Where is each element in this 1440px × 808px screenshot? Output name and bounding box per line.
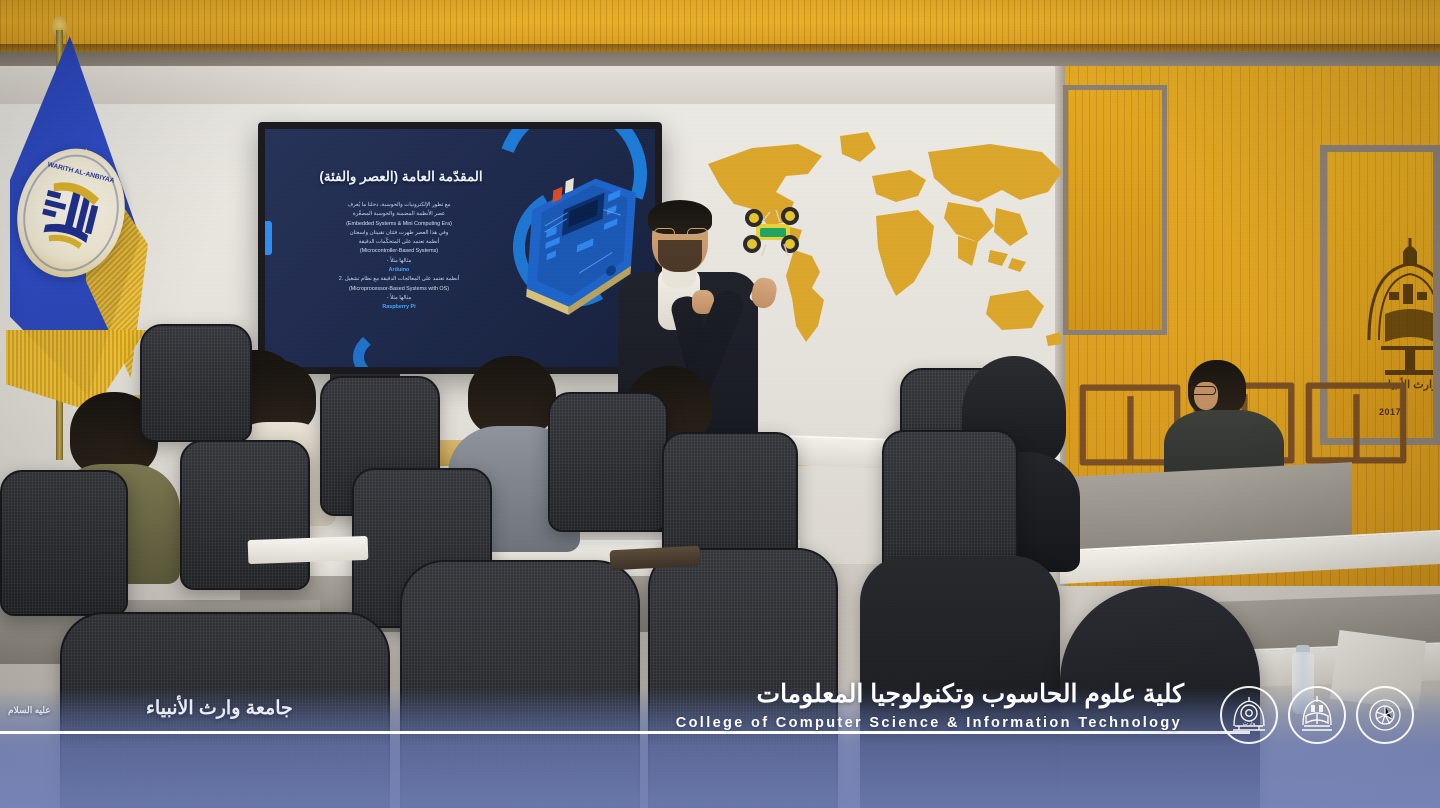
robot-car bbox=[740, 204, 806, 264]
office-chair-foreground bbox=[60, 612, 390, 808]
student-head bbox=[468, 356, 556, 436]
office-chair-foreground bbox=[400, 560, 640, 808]
slide-line: أنظمة تعتمد على المعالجات الدقيقة مع نظا… bbox=[273, 275, 525, 284]
slide-body: مع تطور الإلكترونيات والحوسبة، دخلنا ما … bbox=[273, 201, 525, 313]
office-chair-foreground bbox=[648, 548, 838, 808]
slide-line: مثالها مثلاً - bbox=[273, 257, 525, 266]
presenter-glasses bbox=[654, 228, 708, 240]
slide-line: مع تطور الإلكترونيات والحوسبة، دخلنا ما … bbox=[273, 201, 525, 210]
office-chair bbox=[180, 440, 310, 590]
notebook bbox=[248, 536, 369, 564]
glasses-icon bbox=[1190, 386, 1216, 395]
slide-line: عصر الأنظمة المضمنة والحوسبة المصغّرة bbox=[273, 210, 525, 219]
slide-line-arduino: Arduino bbox=[273, 266, 525, 275]
office-chair-foreground bbox=[860, 556, 1060, 808]
office-chair bbox=[0, 470, 128, 616]
slide-line: (Embedded Systems & Mini Computing Era) bbox=[273, 220, 525, 229]
water-bottle bbox=[1292, 652, 1314, 714]
slide-line: مثالها مثلاً - bbox=[273, 294, 525, 303]
lecture-photo: وارث الأنبياء 2017 bbox=[0, 0, 1440, 808]
wooden-chair-back bbox=[1306, 383, 1407, 464]
university-subtitle-ar: عليه السلام bbox=[8, 705, 51, 716]
presenter-beard bbox=[658, 240, 702, 272]
slide-line: (Microcontroller-Based Systems) bbox=[273, 247, 525, 256]
university-emblem-carving: وارث الأنبياء bbox=[1355, 222, 1440, 402]
slide-arc-decoration bbox=[353, 327, 433, 367]
office-chair bbox=[140, 324, 252, 442]
paper-stack bbox=[1330, 630, 1426, 710]
slide-tab-decoration bbox=[265, 221, 272, 255]
slide-line: وفي هذا العصر ظهرت فئتان تقنيتان واسعتان bbox=[273, 229, 525, 238]
flag-emblem-text: WARITH AL-ANBIYAA bbox=[47, 161, 116, 184]
slide-screen: المقدّمة العامة (العصر والفئة) مع تطور ا… bbox=[265, 129, 655, 367]
slide-line: (Microprocessor-Based Systems with OS) bbox=[273, 285, 525, 294]
slide-title: المقدّمة العامة (العصر والفئة) bbox=[265, 169, 537, 185]
slide-line: أنظمة تعتمد على المتحكّمات الدقيقة bbox=[273, 238, 525, 247]
office-chair-foreground bbox=[1060, 586, 1260, 808]
office-chair bbox=[548, 392, 668, 532]
slide-line-raspberrypi: Raspberry Pi bbox=[273, 303, 525, 312]
